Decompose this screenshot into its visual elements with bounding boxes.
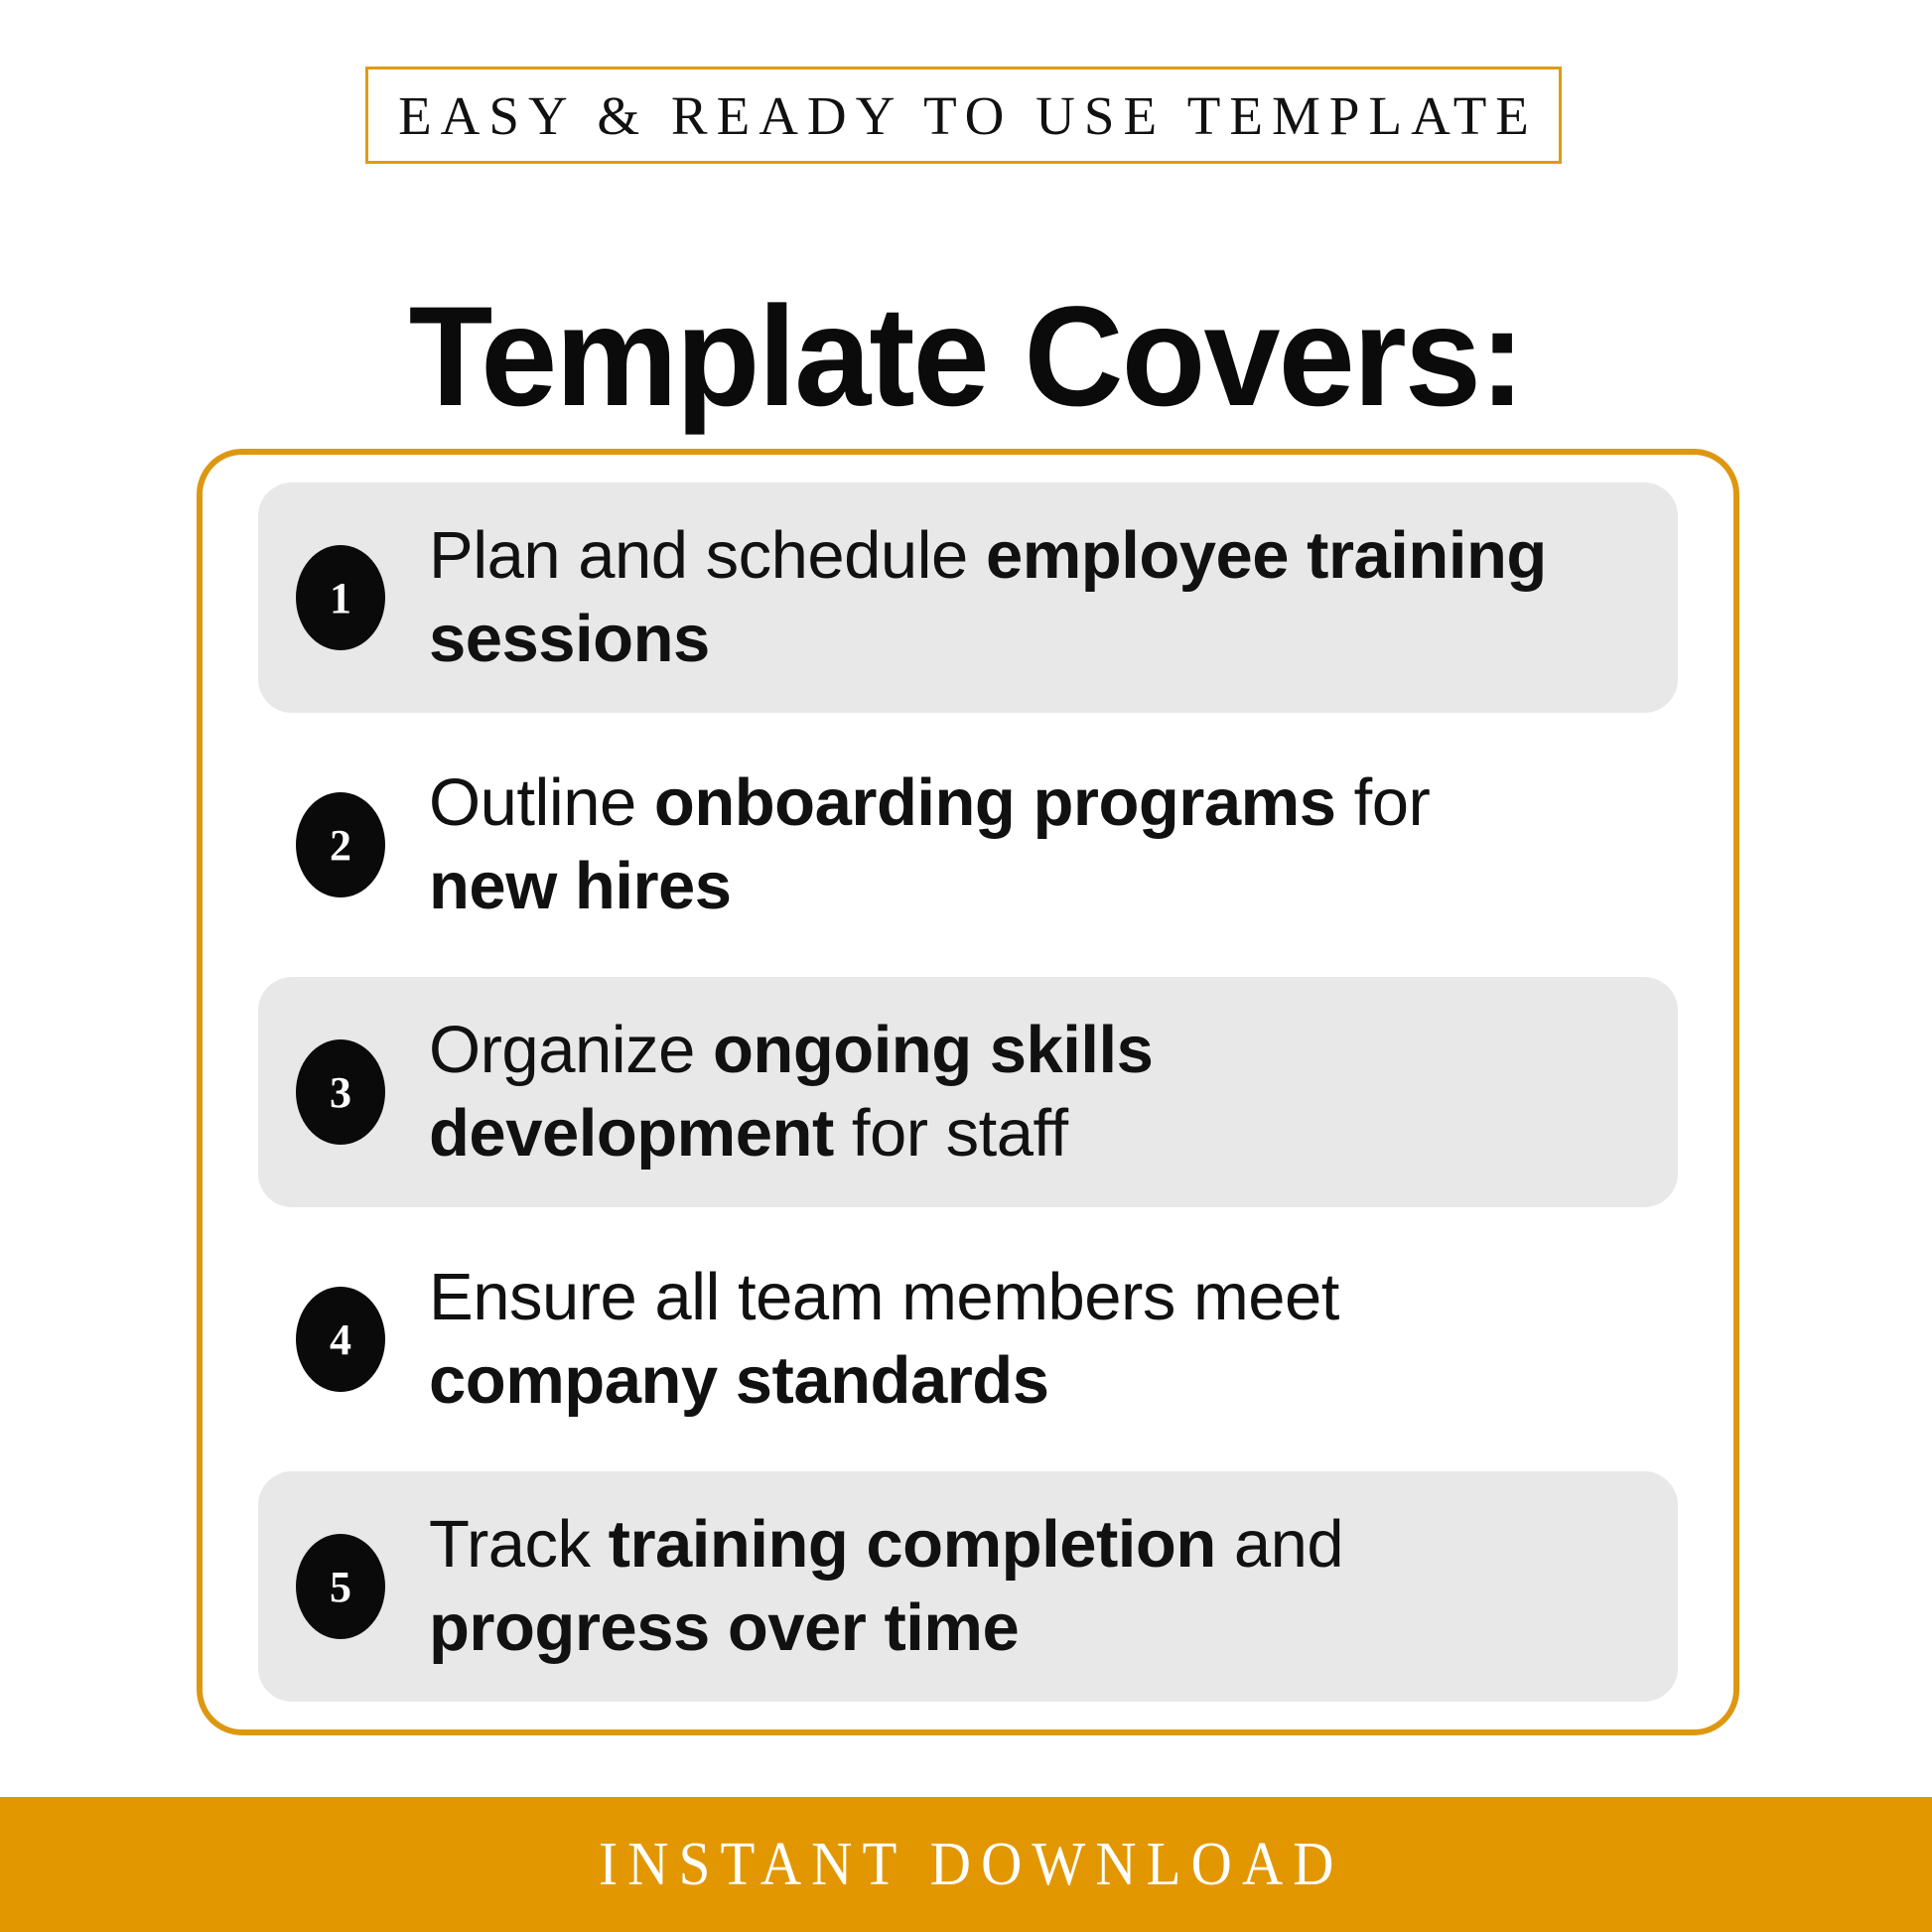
list-item-number: 1 (330, 577, 351, 621)
eyebrow-label: EASY & READY TO USE TEMPLATE (389, 88, 1538, 143)
list-item-text-emphasis: company standards (429, 1343, 1048, 1418)
list-item-number-badge: 5 (296, 1534, 385, 1639)
list-item-text: Plan and schedule employee training sess… (429, 514, 1571, 681)
list-item-text-plain: for (1335, 765, 1430, 840)
list-item-text-emphasis: progress over time (429, 1590, 1019, 1665)
list-item-text-plain: and (1216, 1507, 1343, 1582)
list-item-number: 3 (330, 1071, 351, 1115)
list-item-text-plain: Ensure all team members meet (429, 1260, 1339, 1334)
list-item-text-emphasis: new hires (429, 849, 732, 923)
list-item-text: Track training completion and progress o… (429, 1503, 1571, 1670)
list-item-text: Ensure all team members meet company sta… (429, 1256, 1571, 1423)
list-item-text-plain: for staff (834, 1096, 1068, 1171)
list-item-text-plain: Organize (429, 1013, 713, 1087)
list-item-number-badge: 2 (296, 792, 385, 897)
instant-download-banner: INSTANT DOWNLOAD (0, 1797, 1932, 1932)
list-item-text-plain: Track (429, 1507, 609, 1582)
list-item-number-badge: 3 (296, 1039, 385, 1145)
list-item-number-badge: 1 (296, 545, 385, 650)
list-item: 4Ensure all team members meet company st… (258, 1224, 1678, 1454)
list-item-text-emphasis: onboarding programs (654, 765, 1336, 840)
covers-list-container: 1Plan and schedule employee training ses… (197, 449, 1739, 1735)
eyebrow-banner: EASY & READY TO USE TEMPLATE (365, 67, 1562, 164)
list-item-text-plain: Plan and schedule (429, 518, 986, 593)
list-item-number: 2 (330, 824, 351, 868)
instant-download-label: INSTANT DOWNLOAD (589, 1834, 1344, 1895)
list-item-text: Outline onboarding programs for new hire… (429, 761, 1571, 928)
list-item: 1Plan and schedule employee training ses… (258, 483, 1678, 713)
list-item-number: 4 (330, 1318, 351, 1362)
list-item: 5Track training completion and progress … (258, 1471, 1678, 1702)
list-item-text: Organize ongoing skills development for … (429, 1009, 1571, 1175)
list-item: 2Outline onboarding programs for new hir… (258, 730, 1678, 960)
page-title: Template Covers: (29, 286, 1903, 428)
list-item: 3Organize ongoing skills development for… (258, 977, 1678, 1207)
list-item-text-plain: Outline (429, 765, 654, 840)
list-item-text-emphasis: training completion (609, 1507, 1216, 1582)
list-item-number: 5 (330, 1566, 351, 1609)
list-item-number-badge: 4 (296, 1287, 385, 1392)
